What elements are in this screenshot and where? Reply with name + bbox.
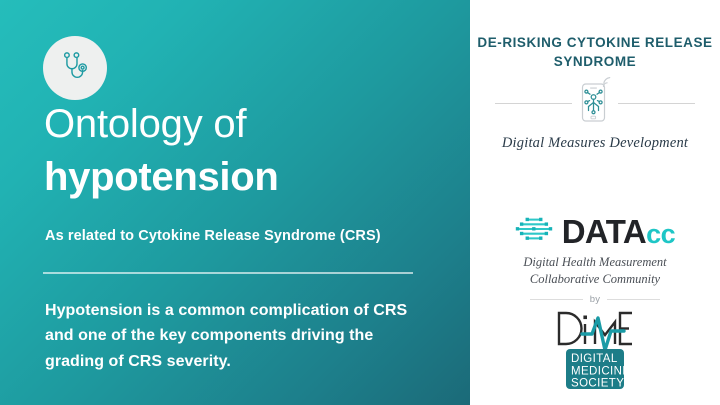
- program-tagline: Digital Measures Development: [470, 135, 720, 152]
- right-logo-panel: DE-RISKING CYTOKINE RELEASE SYNDROME: [470, 0, 720, 405]
- title-line-1: Ontology of: [44, 103, 246, 145]
- program-title: DE-RISKING CYTOKINE RELEASE SYNDROME: [470, 33, 720, 71]
- by-rule-left: [530, 299, 583, 300]
- mark-rule-left: [495, 103, 572, 104]
- stethoscope-badge: [43, 36, 107, 100]
- dime-logo: DIGITAL MEDICINE SOCIETY: [470, 308, 720, 392]
- body-copy: Hypotension is a common complication of …: [45, 298, 425, 374]
- datacc-wordmark-main: DATA: [562, 213, 646, 250]
- stethoscope-icon: [56, 49, 94, 87]
- mark-rule-right: [618, 103, 695, 104]
- attribution-separator: by: [530, 294, 660, 305]
- by-label: by: [590, 294, 601, 305]
- title-line-2: hypotension: [44, 156, 278, 198]
- datacc-subtitle: Digital Health Measurement Collaborative…: [470, 254, 720, 288]
- smartphone-wifi-icon: [578, 77, 612, 130]
- dime-logo-line-3: SOCIETY: [571, 378, 624, 390]
- datacc-wordmark-accent: cc: [646, 219, 675, 249]
- dime-logo-line-2: MEDICINE: [571, 366, 630, 378]
- datacc-wordmark: DATAcc: [562, 215, 676, 248]
- datacc-lockup: DATAcc Digital Health Measurement Collab…: [470, 214, 720, 288]
- dime-logo-line-1: DIGITAL: [571, 353, 618, 365]
- divider-rule: [43, 272, 413, 274]
- datacc-subtitle-line-2: Collaborative Community: [470, 271, 720, 288]
- slide-canvas: Ontology of hypotension As related to Cy…: [0, 0, 720, 405]
- by-rule-right: [607, 299, 660, 300]
- datacc-subtitle-line-1: Digital Health Measurement: [470, 254, 720, 271]
- program-mark: [495, 76, 695, 130]
- subtitle: As related to Cytokine Release Syndrome …: [45, 228, 381, 244]
- datacc-lines-icon: [515, 214, 553, 249]
- left-teal-panel: Ontology of hypotension As related to Cy…: [0, 0, 470, 405]
